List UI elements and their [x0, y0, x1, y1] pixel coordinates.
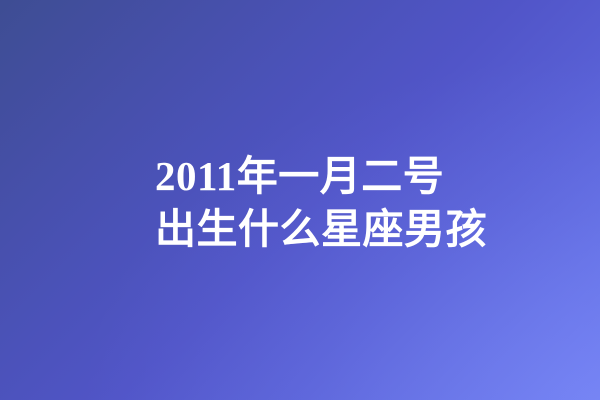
headline-line-2: 出生什么星座男孩: [155, 203, 555, 256]
headline-block: 2011年一月二号 出生什么星座男孩: [155, 150, 555, 256]
banner-canvas: 2011年一月二号 出生什么星座男孩: [0, 0, 600, 400]
headline-line-1: 2011年一月二号: [155, 150, 555, 203]
